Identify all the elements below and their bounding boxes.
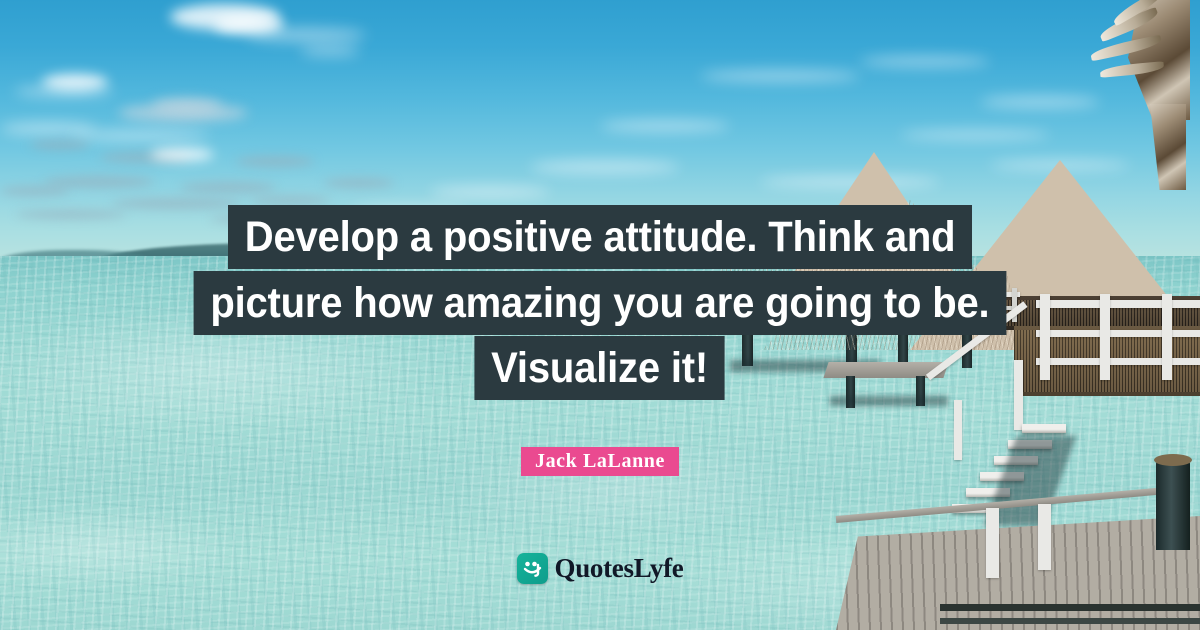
author-attribution: Jack LaLanne <box>0 447 1200 476</box>
brand-name: QuotesLyfe <box>555 553 684 584</box>
cloud <box>324 178 394 188</box>
brand-logo[interactable]: QuotesLyfe <box>0 553 1200 584</box>
cloud <box>900 130 1050 140</box>
cloud <box>150 148 214 161</box>
cloud <box>860 56 990 67</box>
quote-smiley-icon <box>517 553 548 584</box>
cloud <box>300 46 360 56</box>
cloud <box>600 120 730 132</box>
deck-slat <box>940 618 1200 624</box>
cloud <box>180 182 276 193</box>
cloud <box>236 156 314 167</box>
cloud <box>246 28 366 42</box>
cloud <box>430 186 550 198</box>
stair-step <box>1022 424 1066 433</box>
cloud <box>70 130 210 141</box>
deck-slat <box>940 604 1200 611</box>
cloud <box>14 86 114 97</box>
cloud <box>44 176 154 188</box>
quote-card: Develop a positive attitude. Think and p… <box>0 0 1200 630</box>
cloud <box>0 186 70 196</box>
cloud <box>152 98 222 113</box>
cloud <box>700 70 860 82</box>
quote-line-2: picture how amazing you are going to be. <box>194 271 1007 335</box>
quote-line-1: Develop a positive attitude. Think and <box>228 205 972 269</box>
quote-text-block: Develop a positive attitude. Think and p… <box>0 205 1200 402</box>
cloud <box>980 96 1100 108</box>
cloud <box>30 140 90 150</box>
cloud <box>530 160 680 174</box>
quote-line-3: Visualize it! <box>475 336 725 400</box>
cloud <box>250 196 330 205</box>
author-name: Jack LaLanne <box>521 447 679 476</box>
